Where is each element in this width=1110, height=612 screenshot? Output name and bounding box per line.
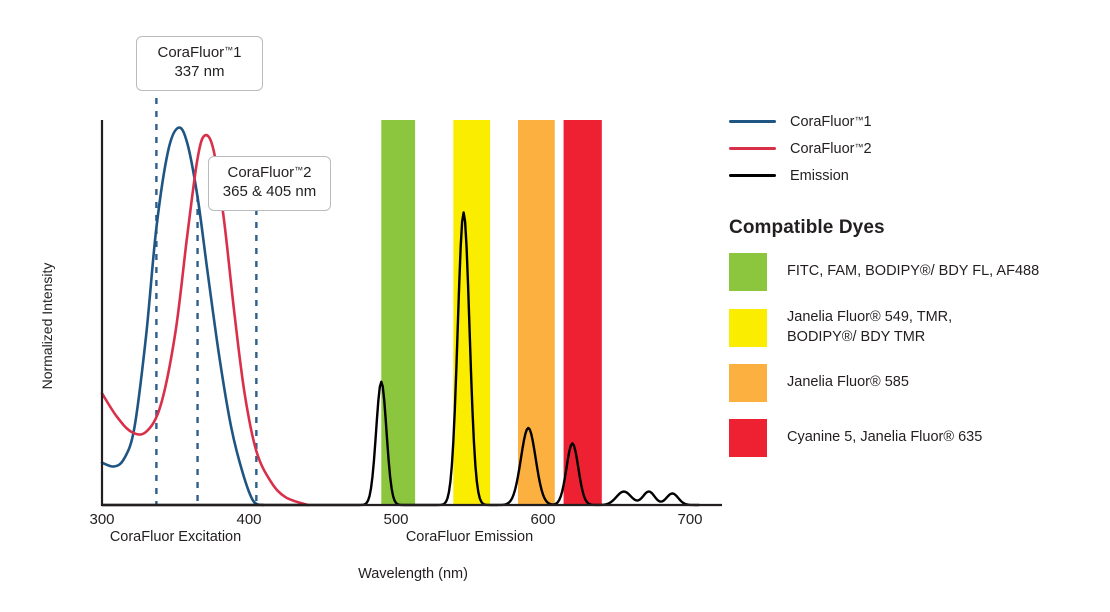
legend-label-base: CoraFluor (790, 141, 854, 157)
dye-label-line1: Janelia Fluor® 585 (787, 373, 909, 393)
dye-label: Janelia Fluor® 585 (787, 373, 909, 393)
callout-cf2-index: 2 (303, 164, 311, 181)
dye-row: Janelia Fluor® 585 (729, 364, 1099, 402)
x-axis-title: Wavelength (nm) (0, 566, 826, 582)
legend-item-2: CoraFluor™2 (729, 135, 1099, 162)
callout-cf2-line2: 365 & 405 nm (221, 183, 318, 202)
dye-label-line2: BODIPY®/ BDY TMR (787, 328, 952, 348)
dye-label-line1: FITC, FAM, BODIPY®/ BDY FL, AF488 (787, 262, 1039, 282)
callout-cf2-line1: CoraFluor™2 (221, 164, 318, 183)
dye-label-line1: Janelia Fluor® 549, TMR, (787, 308, 952, 328)
legend-label-index: 2 (863, 141, 871, 157)
trademark-icon: ™ (854, 142, 863, 152)
trademark-icon: ™ (294, 165, 303, 175)
green-band (381, 120, 415, 505)
legend-item-1: CoraFluor™1 (729, 108, 1099, 135)
y-axis-title: Normalized Intensity (39, 246, 55, 406)
callout-cf1-name: CoraFluor (157, 44, 224, 61)
dye-label-line1: Cyanine 5, Janelia Fluor® 635 (787, 428, 982, 448)
dye-label: Janelia Fluor® 549, TMR,BODIPY®/ BDY TMR (787, 308, 952, 347)
legend-label-index: 1 (863, 114, 871, 130)
dye-label: Cyanine 5, Janelia Fluor® 635 (787, 428, 982, 448)
dye-label: FITC, FAM, BODIPY®/ BDY FL, AF488 (787, 262, 1039, 282)
dye-color-swatch (729, 364, 767, 402)
callout-cf1-index: 1 (233, 44, 241, 61)
callout-cf1-line2: 337 nm (149, 63, 250, 82)
trademark-icon: ™ (854, 115, 863, 125)
legend-series-list: CoraFluor™1CoraFluor™2Emission (729, 108, 1099, 189)
trademark-icon: ™ (224, 45, 233, 55)
x-tick-label-600: 600 (513, 511, 573, 528)
region-label-emission: CoraFluor Emission (360, 529, 580, 545)
x-tick-label-700: 700 (660, 511, 720, 528)
dye-row: Janelia Fluor® 549, TMR,BODIPY®/ BDY TMR (729, 308, 1099, 347)
callout-corafluor-1: CoraFluor™1 337 nm (136, 36, 263, 91)
x-tick-label-400: 400 (219, 511, 279, 528)
fluorescence-spectra-figure: CoraFluor™1 337 nm CoraFluor™2 365 & 405… (0, 0, 1110, 612)
legend-label-base: CoraFluor (790, 114, 854, 130)
x-tick-label-300: 300 (72, 511, 132, 528)
dye-row: FITC, FAM, BODIPY®/ BDY FL, AF488 (729, 253, 1099, 291)
compatible-dyes-list: FITC, FAM, BODIPY®/ BDY FL, AF488Janelia… (729, 253, 1099, 457)
legend-line-swatch (729, 174, 776, 177)
dye-color-swatch (729, 309, 767, 347)
dye-color-swatch (729, 253, 767, 291)
callout-cf1-line1: CoraFluor™1 (149, 44, 250, 63)
callout-cf2-name: CoraFluor (227, 164, 294, 181)
legend-line-swatch (729, 120, 776, 123)
callout-corafluor-2: CoraFluor™2 365 & 405 nm (208, 156, 331, 211)
dye-color-swatch (729, 419, 767, 457)
compatible-dyes-heading: Compatible Dyes (729, 217, 1099, 239)
x-tick-label-500: 500 (366, 511, 426, 528)
legend-item-3: Emission (729, 162, 1099, 189)
legend-item-label: CoraFluor™1 (790, 114, 872, 130)
legend-panel: CoraFluor™1CoraFluor™2Emission Compatibl… (729, 108, 1099, 474)
legend-label-base: Emission (790, 168, 849, 184)
legend-line-swatch (729, 147, 776, 150)
legend-item-label: Emission (790, 168, 849, 184)
dye-row: Cyanine 5, Janelia Fluor® 635 (729, 419, 1099, 457)
legend-item-label: CoraFluor™2 (790, 141, 872, 157)
region-label-excitation: CoraFluor Excitation (66, 529, 286, 545)
